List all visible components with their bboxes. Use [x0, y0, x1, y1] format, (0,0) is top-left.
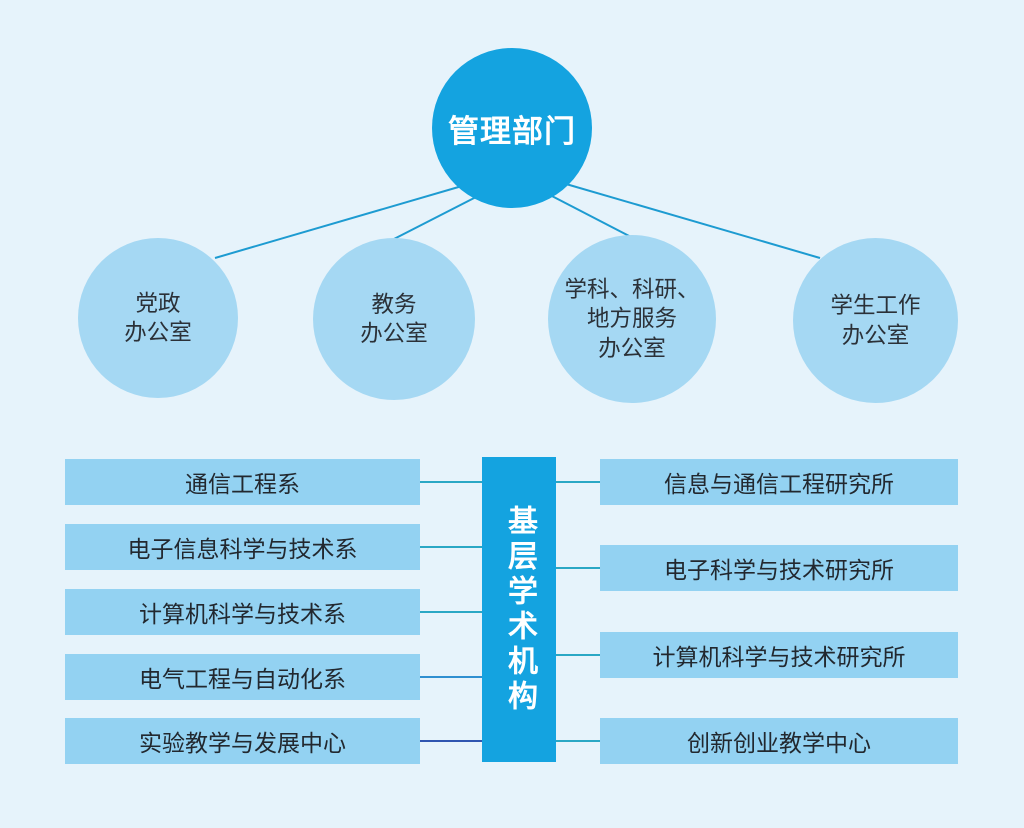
label-line: 办公室 — [124, 318, 192, 347]
department-circle-label: 党政 办公室 — [118, 289, 198, 348]
right-unit-label: 计算机科学与技术研究所 — [653, 638, 906, 672]
department-circle-academic-affairs-office[interactable]: 教务 办公室 — [313, 238, 475, 400]
label-line: 教务 — [360, 290, 428, 319]
department-circle-student-affairs-office[interactable]: 学生工作 办公室 — [793, 238, 958, 403]
right-unit-label: 电子科学与技术研究所 — [664, 551, 894, 585]
label-line: 党政 — [124, 289, 192, 318]
right-unit-bar-innovation-entrepreneurship-teaching-center[interactable]: 创新创业教学中心 — [600, 718, 958, 764]
label-line: 学科、科研、 — [564, 275, 699, 304]
department-circle-label: 学科、科研、 地方服务 办公室 — [558, 275, 705, 363]
left-unit-label: 电子信息科学与技术系 — [128, 530, 358, 564]
connector-root-to-dept-1 — [392, 196, 478, 240]
left-unit-bar-electrical-engineering-automation[interactable]: 电气工程与自动化系 — [65, 654, 420, 700]
department-circle-label: 教务 办公室 — [354, 290, 434, 349]
label-line: 地方服务 — [564, 304, 699, 333]
label-line: 办公室 — [360, 319, 428, 348]
right-unit-label: 信息与通信工程研究所 — [664, 465, 894, 499]
left-unit-label: 电气工程与自动化系 — [139, 660, 346, 694]
department-circle-discipline-research-local-service-office[interactable]: 学科、科研、 地方服务 办公室 — [548, 235, 716, 403]
right-unit-bar-electronic-science-technology-institute[interactable]: 电子科学与技术研究所 — [600, 545, 958, 591]
right-unit-bar-computer-science-technology-institute[interactable]: 计算机科学与技术研究所 — [600, 632, 958, 678]
left-unit-label: 通信工程系 — [185, 465, 300, 499]
left-unit-bar-computer-science[interactable]: 计算机科学与技术系 — [65, 589, 420, 635]
label-line: 办公室 — [830, 321, 920, 350]
academic-hub-block[interactable]: 基层学术机构 — [482, 457, 556, 762]
label-line: 学生工作 — [830, 291, 920, 320]
right-unit-bar-information-communication-engineering-institute[interactable]: 信息与通信工程研究所 — [600, 459, 958, 505]
department-circle-label: 学生工作 办公室 — [824, 291, 926, 350]
connector-root-to-dept-2 — [548, 194, 633, 238]
left-unit-label: 计算机科学与技术系 — [139, 595, 346, 629]
left-unit-bar-experimental-teaching-development-center[interactable]: 实验教学与发展中心 — [65, 718, 420, 764]
department-circle-party-admin-office[interactable]: 党政 办公室 — [78, 238, 238, 398]
root-node-label: 管理部门 — [442, 106, 582, 151]
root-node-management-department[interactable]: 管理部门 — [432, 48, 592, 208]
org-chart-diagram: 管理部门 党政 办公室 教务 办公室 学科、科研、 地方服务 办公室 学生工作 … — [0, 0, 1024, 828]
left-unit-bar-communication-engineering[interactable]: 通信工程系 — [65, 459, 420, 505]
left-unit-label: 实验教学与发展中心 — [139, 724, 346, 758]
academic-hub-label: 基层学术机构 — [504, 505, 534, 715]
right-unit-label: 创新创业教学中心 — [687, 724, 871, 758]
left-unit-bar-electronic-information-science[interactable]: 电子信息科学与技术系 — [65, 524, 420, 570]
label-line: 办公室 — [564, 334, 699, 363]
